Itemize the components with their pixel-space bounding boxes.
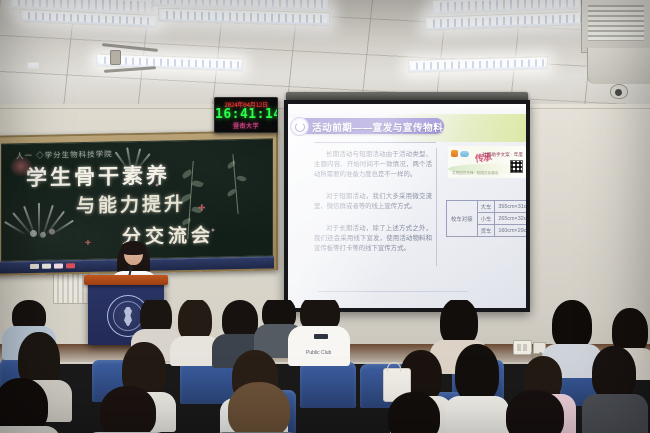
table-cell-size: 355cm×31cm (495, 201, 526, 213)
audience-body (0, 426, 60, 433)
chalk-cross: ✚ (198, 203, 206, 214)
audience-body (445, 396, 509, 433)
audience-hair (506, 390, 564, 433)
auditorium-chair[interactable] (300, 362, 356, 408)
slide-badge-icon (290, 117, 309, 136)
table-cell-size: 265cm×32cm (495, 213, 526, 225)
presenter-fringe (121, 241, 146, 255)
table-cell-size: 160cm×29cm (495, 225, 526, 237)
air-conditioner-body (587, 48, 650, 84)
slide-paragraph: 长期活动与短期活动由于活动类型、主题内容、开始时间不一致情况，两个活动所需要的准… (314, 150, 432, 180)
slide-paragraph: 对于短期活动，我们大多采用微交流室、微信群或者等的线上宣传方式。 (314, 192, 432, 212)
table-cell-type: 货车 (477, 225, 495, 237)
audience-hair (388, 392, 440, 433)
banner-logo-icon (451, 150, 458, 157)
chalk-star: ✦ (154, 182, 160, 190)
ceiling-light-small (27, 62, 39, 69)
banner-logo-secondary-icon (460, 151, 469, 157)
projection-screen-border: 活动前期——宣发与宣传物料 长期活动与短期活动由于活动类型、主题内容、开始时间不… (284, 100, 530, 312)
qr-code-icon (510, 160, 523, 173)
blackboard-title-line1: 学生骨干素养 (26, 159, 170, 192)
lecture-hall-photo: 人一 ◇学分生物科技学院 学生骨干素养 与能力提升 分交流会 (0, 0, 650, 433)
chalk-piece[interactable] (42, 264, 51, 269)
clock-organization: 暨南大学 (215, 121, 277, 130)
banner-right-text: 社招助手文案 · 年度 (482, 152, 523, 158)
audience-hair (455, 344, 499, 402)
clock-time: 16:41:14 (215, 107, 277, 122)
table-row-label: 校车对接 (447, 201, 478, 237)
podium-top-surface (84, 275, 168, 285)
blackboard-title-line2: 与能力提升 (76, 189, 186, 218)
slide-data-table: 校车对接 大车 355cm×31cm 小车 265cm×32cm 货车 160c… (446, 200, 526, 237)
audience-body (288, 326, 350, 366)
banner-sub-text: 共青团员先锋 · 校园文化建设 (452, 171, 498, 176)
table-cell-type: 大车 (477, 201, 495, 213)
audience-hair (228, 382, 290, 433)
blackboard-subtitle: 人一 ◇学分生物科技学院 (16, 148, 113, 161)
air-conditioner-vent (581, 0, 650, 53)
audience-area: Public Club (0, 300, 650, 433)
chalk-piece[interactable] (30, 264, 39, 269)
ceiling-fan-hub (110, 50, 121, 65)
shirt-label (314, 334, 328, 339)
slide-title: 活动前期——宣发与宣传物料 (312, 120, 443, 134)
slide-title-bar: 活动前期——宣发与宣传物料 (294, 118, 444, 134)
table-cell-type: 小车 (477, 213, 495, 225)
chalk-piece[interactable] (66, 263, 75, 268)
audience-hair (552, 300, 592, 350)
shirt-text: Public Club (306, 350, 331, 356)
slide-divider (314, 142, 436, 143)
chalk-star: ✦ (210, 226, 216, 234)
chalk-cross: ✚ (85, 239, 91, 247)
audience-hair (100, 386, 156, 433)
audience-body (582, 394, 648, 433)
digital-clock-display: 2024年04月12日 16:41:14 暨南大学 (214, 97, 278, 133)
slide-footer-rule (318, 291, 468, 292)
chalk-piece[interactable] (54, 263, 63, 268)
audience-hair (592, 346, 636, 400)
slide-body-column: 长期活动与短期活动由于活动类型、主题内容、开始时间不一致情况，两个活动所需要的准… (314, 148, 437, 266)
projection-screen: 活动前期——宣发与宣传物料 长期活动与短期活动由于活动类型、主题内容、开始时间不… (288, 104, 526, 308)
audience-hair (0, 378, 48, 433)
table-row: 校车对接 大车 355cm×31cm (447, 201, 527, 213)
ceiling-camera-icon (610, 84, 628, 99)
slide-banner-image: 传承 社招助手文案 · 年度 共青团员先锋 · 校园文化建设 (448, 146, 526, 178)
slide-paragraph: 对于长期活动，除了上述方式之外，我们还会采用线下宣发，使用活动物料和宣传板等打卡… (314, 224, 432, 254)
